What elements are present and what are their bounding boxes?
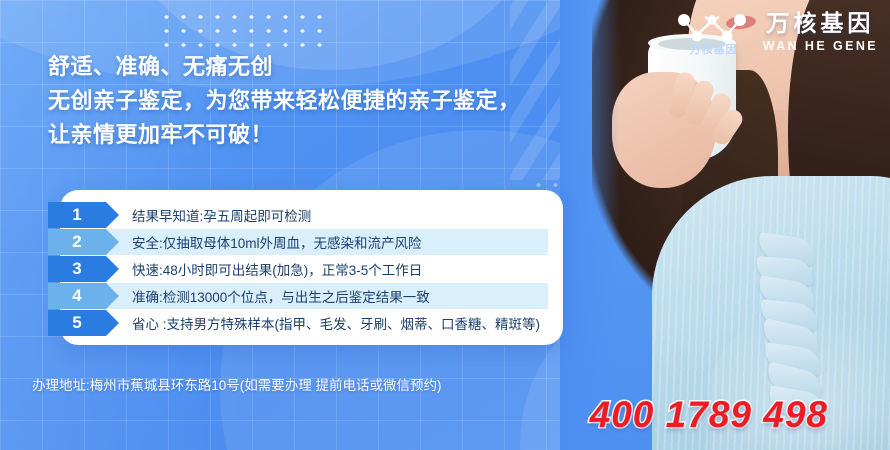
dot-grid-top-icon <box>158 10 334 54</box>
headline: 舒适、准确、无痛无创 无创亲子鉴定，为您带来轻松便捷的亲子鉴定， 让亲情更加牢不… <box>48 50 648 152</box>
feature-number-badge: 3 <box>48 256 106 282</box>
feature-number-badge: 4 <box>48 283 106 309</box>
feature-text: 准确:检测13000个位点，与出生之后鉴定结果一致 <box>106 283 548 309</box>
feature-number-badge: 1 <box>48 202 106 228</box>
molecule-network-icon: 万核基因 <box>675 8 749 56</box>
hotline-number[interactable]: 400 1789 498 <box>590 394 828 436</box>
feature-text: 安全:仅抽取母体10ml外周血，无感染和流产风险 <box>106 229 548 255</box>
feature-item: 3 快速:48小时即可出结果(加急)，正常3-5个工作日 <box>48 256 548 282</box>
brand-name-en: WAN HE GENE <box>763 40 878 53</box>
feature-item: 1 结果早知道:孕五周起即可检测 <box>48 202 548 228</box>
feature-number-badge: 5 <box>48 310 106 336</box>
feature-item: 2 安全:仅抽取母体10ml外周血，无感染和流产风险 <box>48 229 548 255</box>
brand-wordmark: 万核基因 WAN HE GENE <box>763 12 878 53</box>
feature-item: 4 准确:检测13000个位点，与出生之后鉴定结果一致 <box>48 283 548 309</box>
headline-line-2: 无创亲子鉴定，为您带来轻松便捷的亲子鉴定， <box>48 84 648 118</box>
feature-text: 省心 :支持男方特殊样本(指甲、毛发、牙刷、烟蒂、口香糖、精斑等) <box>106 310 548 336</box>
brand-logo[interactable]: 万核基因 万核基因 WAN HE GENE <box>675 8 878 56</box>
headline-line-3: 让亲情更加牢不可破！ <box>48 118 648 152</box>
logo-mark-caption: 万核基因 <box>679 41 749 57</box>
feature-list: 1 结果早知道:孕五周起即可检测 2 安全:仅抽取母体10ml外周血，无感染和流… <box>48 202 548 337</box>
brand-name-cn: 万核基因 <box>766 12 874 35</box>
office-address: 办理地址:梅州市蕉城县环东路10号(如需要办理 提前电话或微信预约) <box>32 374 442 394</box>
feature-text: 快速:48小时即可出结果(加急)，正常3-5个工作日 <box>106 256 548 282</box>
feature-item: 5 省心 :支持男方特殊样本(指甲、毛发、牙刷、烟蒂、口香糖、精斑等) <box>48 310 548 336</box>
feature-text: 结果早知道:孕五周起即可检测 <box>106 202 548 228</box>
feature-number-badge: 2 <box>48 229 106 255</box>
headline-line-1: 舒适、准确、无痛无创 <box>48 50 648 84</box>
promo-banner: 万核基因 万核基因 WAN HE GENE 舒适、准确、无痛无创 无创亲子鉴定，… <box>0 0 890 450</box>
